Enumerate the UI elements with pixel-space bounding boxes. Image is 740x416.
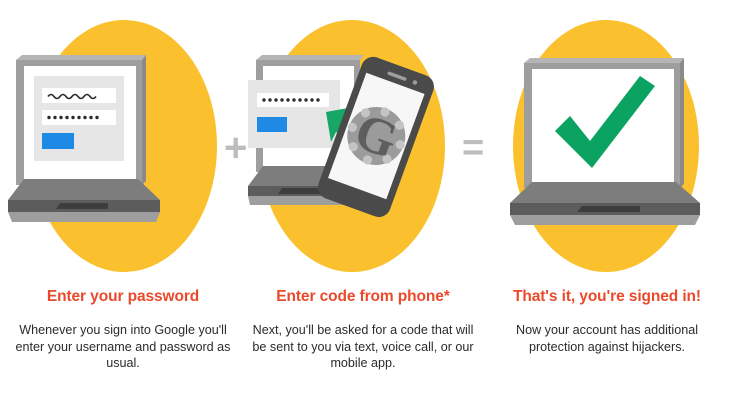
- step-body: Whenever you sign into Google you'll ent…: [8, 322, 238, 372]
- step-panel-signed-in: That's it, you're signed in! Now your ac…: [492, 0, 722, 416]
- captions-code: Enter code from phone* Next, you'll be a…: [248, 288, 478, 372]
- illustration-laptop-login-form: [8, 0, 238, 285]
- laptop-lid-top-edge: [16, 55, 146, 60]
- step-heading: Enter your password: [8, 288, 238, 306]
- sign-in-button[interactable]: [42, 133, 74, 149]
- step-heading: That's it, you're signed in!: [492, 288, 722, 306]
- laptop-base-top: [510, 182, 700, 203]
- laptop-trackpad: [577, 206, 640, 212]
- equals-operator-icon: =: [462, 129, 484, 167]
- plus-operator-icon: +: [224, 128, 247, 168]
- step-heading: Enter code from phone*: [248, 288, 478, 306]
- captions-password: Enter your password Whenever you sign in…: [8, 288, 238, 372]
- step-body: Next, you'll be asked for a code that wi…: [248, 322, 478, 372]
- laptop-base-front: [8, 212, 160, 222]
- login-card: [248, 80, 340, 148]
- password-dots-icon: [47, 116, 98, 119]
- illustration-phone-authenticator: G: [248, 0, 478, 285]
- laptop-lid-top-edge: [524, 58, 684, 63]
- captions-signed-in: That's it, you're signed in! Now your ac…: [492, 288, 722, 355]
- step-panel-code: G Enter code from phone* Next, you'll be…: [248, 0, 478, 416]
- step-body: Now your account has additional protecti…: [492, 322, 722, 355]
- illustration-laptop-checkmark: [492, 0, 722, 285]
- laptop-lid-right-edge: [680, 58, 684, 188]
- step-panel-password: Enter your password Whenever you sign in…: [8, 0, 238, 416]
- laptop-trackpad: [56, 203, 108, 209]
- sign-in-button[interactable]: [257, 117, 287, 132]
- laptop-lid-top-edge: [256, 55, 364, 60]
- laptop-lid-right-edge: [142, 55, 146, 185]
- laptop-base-front: [510, 215, 700, 225]
- laptop-base-top: [8, 179, 160, 200]
- two-step-verification-infographic: Enter your password Whenever you sign in…: [0, 0, 740, 416]
